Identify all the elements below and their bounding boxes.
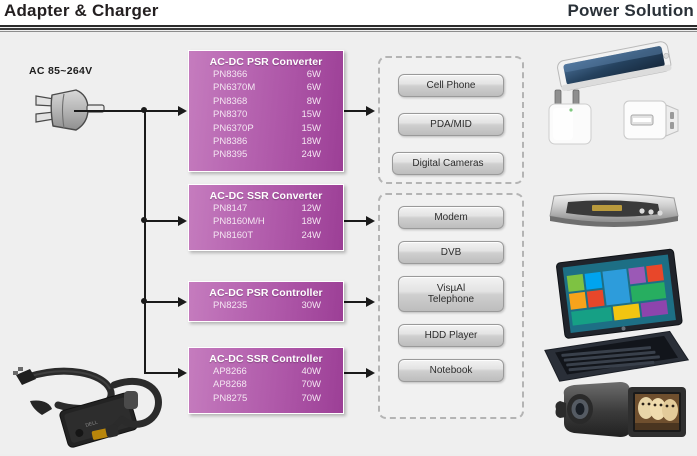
part-power: 30W: [291, 299, 321, 312]
product-row: PN8160M/H 18W: [189, 215, 343, 228]
part-power: 8W: [291, 95, 321, 108]
product-row: PN8147 12W: [189, 202, 343, 215]
product-box-ssr-controller[interactable]: AC-DC SSR Controller AP8266 40W AP8268 7…: [188, 347, 344, 414]
wire-vertical-bus: [144, 110, 146, 374]
part-number: PN8386: [213, 135, 247, 148]
part-power: 18W: [291, 135, 321, 148]
product-row: PN8235 30W: [189, 299, 343, 312]
application-cell-phone[interactable]: Cell Phone: [398, 74, 504, 97]
application-dvb[interactable]: DVB: [398, 241, 504, 264]
part-power: 24W: [291, 148, 321, 161]
part-number: AP8268: [213, 378, 247, 391]
product-box-title: AC-DC PSR Controller: [189, 287, 343, 299]
arrow-box1-to-group1: [366, 106, 375, 116]
part-number: PN6370M: [213, 81, 255, 94]
product-box-title: AC-DC SSR Converter: [189, 190, 343, 202]
product-row: PN6370M 6W: [189, 81, 343, 94]
product-box-title: AC-DC SSR Controller: [189, 353, 343, 365]
part-power: 18W: [291, 215, 321, 228]
header-divider-bottom: [0, 31, 697, 32]
arrow-to-box-1: [178, 106, 187, 116]
header-bar: Adapter & Charger Power Solution: [0, 0, 697, 26]
arrow-box3-to-group2: [366, 297, 375, 307]
product-row: PN8395 24W: [189, 148, 343, 161]
wire-plug-to-bus: [74, 110, 146, 112]
product-row: PN8368 8W: [189, 95, 343, 108]
part-number: PN8275: [213, 392, 247, 405]
part-number: PN8368: [213, 95, 247, 108]
diagram-stage: AC 85~264V: [0, 33, 697, 454]
application-hdd-player[interactable]: HDD Player: [398, 324, 504, 347]
part-power: 70W: [291, 392, 321, 405]
part-number: AP8266: [213, 365, 247, 378]
product-row: PN8370 15W: [189, 108, 343, 121]
set-top-box-photo: [538, 188, 690, 236]
application-digital-cameras[interactable]: Digital Cameras: [392, 152, 504, 175]
arrow-box4-to-group2: [366, 368, 375, 378]
page-title-left: Adapter & Charger: [4, 1, 159, 21]
part-number: PN8395: [213, 148, 247, 161]
windows-tablet-laptop-photo: [540, 248, 695, 388]
part-number: PN8160T: [213, 229, 253, 242]
part-power: 40W: [291, 365, 321, 378]
header-divider-top: [0, 25, 697, 27]
application-visual-telephone[interactable]: VisµAl Telephone: [398, 276, 504, 312]
part-power: 15W: [291, 122, 321, 135]
laptop-power-adapter-photo: DELL: [6, 355, 178, 451]
part-number: PN8370: [213, 108, 247, 121]
page-title-right: Power Solution: [567, 1, 694, 21]
part-power: 15W: [291, 108, 321, 121]
product-box-psr-controller[interactable]: AC-DC PSR Controller PN8235 30W: [188, 281, 344, 322]
arrow-to-box-3: [178, 297, 187, 307]
usb-wall-charger-photo: [545, 86, 601, 150]
part-power: 70W: [291, 378, 321, 391]
part-power: 12W: [291, 202, 321, 215]
part-power: 24W: [291, 229, 321, 242]
product-row: PN8160T 24W: [189, 229, 343, 242]
part-power: 6W: [291, 68, 321, 81]
product-row: PN8386 18W: [189, 135, 343, 148]
application-pda-mid[interactable]: PDA/MID: [398, 113, 504, 136]
part-number: PN8147: [213, 202, 247, 215]
product-box-psr-converter[interactable]: AC-DC PSR Converter PN8366 6W PN6370M 6W…: [188, 50, 344, 172]
product-row: AP8268 70W: [189, 378, 343, 391]
header-divider-mid: [0, 28, 697, 30]
application-modem[interactable]: Modem: [398, 206, 504, 229]
smartphone-photo: [540, 39, 688, 91]
arrow-box2-to-group2: [366, 216, 375, 226]
part-power: 6W: [291, 81, 321, 94]
arrow-to-box-2: [178, 216, 187, 226]
usb-cube-charger-photo: [620, 95, 684, 145]
part-number: PN8366: [213, 68, 247, 81]
product-row: PN8275 70W: [189, 392, 343, 405]
application-notebook[interactable]: Notebook: [398, 359, 504, 382]
camcorder-photo: [550, 373, 690, 449]
product-box-title: AC-DC PSR Converter: [189, 56, 343, 68]
part-number: PN6370P: [213, 122, 254, 135]
product-box-ssr-converter[interactable]: AC-DC SSR Converter PN8147 12W PN8160M/H…: [188, 184, 344, 251]
diagram-canvas: Adapter & Charger Power Solution AC 85~2…: [0, 0, 697, 454]
arrow-to-box-4: [178, 368, 187, 378]
product-row: PN8366 6W: [189, 68, 343, 81]
product-row: AP8266 40W: [189, 365, 343, 378]
part-number: PN8235: [213, 299, 247, 312]
product-row: PN6370P 15W: [189, 122, 343, 135]
part-number: PN8160M/H: [213, 215, 265, 228]
ac-input-label: AC 85~264V: [29, 65, 92, 77]
